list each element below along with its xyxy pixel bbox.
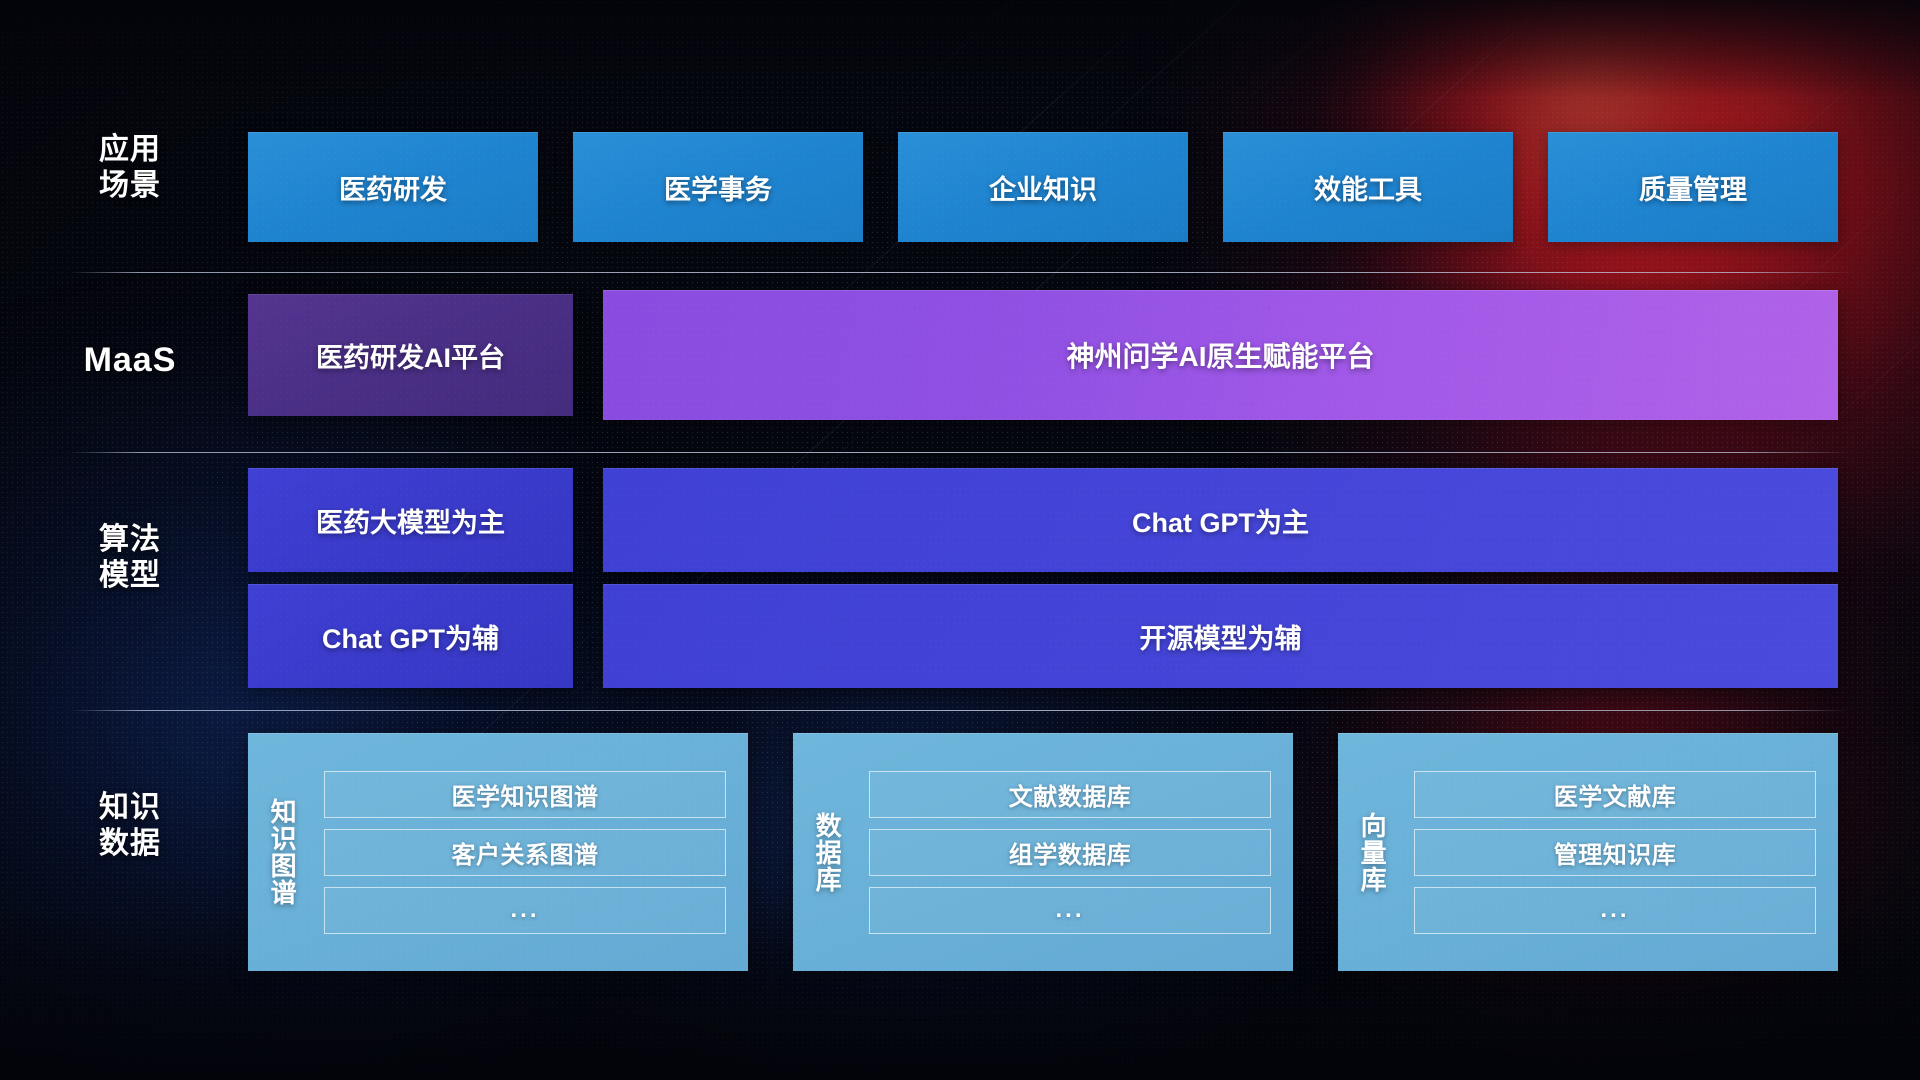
knowledge-group-3-item-1[interactable]: 医学文献库: [1414, 771, 1816, 818]
algorithm-tile-left-1-label: 医药大模型为主: [306, 501, 515, 540]
application-tile-1-label: 医药研发: [329, 168, 457, 207]
maas-platform-right[interactable]: 神州问学AI原生赋能平台: [603, 290, 1838, 420]
row-label-knowledge-line-1: 知识: [70, 790, 190, 826]
application-tile-2-label: 医学事务: [654, 168, 782, 207]
knowledge-group-3-item-3[interactable]: ...: [1414, 887, 1816, 934]
row-label-knowledge-line-2: 数据: [70, 826, 190, 862]
knowledge-group-1-item-3[interactable]: ...: [324, 887, 726, 934]
divider-below-application: [70, 272, 1850, 273]
algorithm-tile-left-1[interactable]: 医药大模型为主: [248, 468, 573, 572]
knowledge-group-1-item-2[interactable]: 客户关系图谱: [324, 829, 726, 876]
maas-platform-left[interactable]: 医药研发AI平台: [248, 294, 573, 416]
algorithm-tile-left-2-label: Chat GPT为辅: [312, 617, 509, 656]
knowledge-group-3-label: 向量库: [1338, 733, 1406, 971]
row-label-maas-text: MaaS: [70, 340, 190, 381]
architecture-diagram: 应用 场景 医药研发 医学事务 企业知识 效能工具 质量管理 MaaS 医药研发…: [0, 0, 1920, 1080]
row-label-algorithm-models: 算法 模型: [70, 522, 190, 594]
maas-platform-left-label: 医药研发AI平台: [306, 336, 515, 375]
algorithm-tile-right-1-label: Chat GPT为主: [1122, 501, 1319, 540]
divider-below-maas: [70, 452, 1850, 453]
knowledge-group-1[interactable]: 知识图谱 医学知识图谱 客户关系图谱 ...: [248, 733, 748, 971]
knowledge-group-2[interactable]: 数据库 文献数据库 组学数据库 ...: [793, 733, 1293, 971]
application-tile-5[interactable]: 质量管理: [1548, 132, 1838, 242]
row-label-application-scenarios: 应用 场景: [70, 132, 190, 204]
row-label-knowledge-data: 知识 数据: [70, 790, 190, 862]
row-label-line-2: 场景: [70, 168, 190, 204]
knowledge-group-3-items: 医学文献库 管理知识库 ...: [1406, 733, 1838, 971]
row-label-algo-line-2: 模型: [70, 558, 190, 594]
knowledge-group-3-item-2[interactable]: 管理知识库: [1414, 829, 1816, 876]
application-tile-5-label: 质量管理: [1629, 168, 1757, 207]
algorithm-tile-right-1[interactable]: Chat GPT为主: [603, 468, 1838, 572]
row-label-algo-line-1: 算法: [70, 522, 190, 558]
row-label-maas: MaaS: [70, 340, 190, 381]
application-tile-3[interactable]: 企业知识: [898, 132, 1188, 242]
knowledge-group-1-items: 医学知识图谱 客户关系图谱 ...: [316, 733, 748, 971]
algorithm-tile-left-2[interactable]: Chat GPT为辅: [248, 584, 573, 688]
application-tile-4-label: 效能工具: [1304, 168, 1432, 207]
knowledge-group-3[interactable]: 向量库 医学文献库 管理知识库 ...: [1338, 733, 1838, 971]
application-tile-4[interactable]: 效能工具: [1223, 132, 1513, 242]
knowledge-group-1-label: 知识图谱: [248, 733, 316, 971]
algorithm-tile-right-2[interactable]: 开源模型为辅: [603, 584, 1838, 688]
divider-below-algorithm: [70, 710, 1850, 711]
knowledge-group-2-label: 数据库: [793, 733, 861, 971]
row-label-line-1: 应用: [70, 132, 190, 168]
application-tile-3-label: 企业知识: [979, 168, 1107, 207]
knowledge-group-2-item-2[interactable]: 组学数据库: [869, 829, 1271, 876]
knowledge-group-2-items: 文献数据库 组学数据库 ...: [861, 733, 1293, 971]
knowledge-group-2-item-1[interactable]: 文献数据库: [869, 771, 1271, 818]
maas-platform-right-label: 神州问学AI原生赋能平台: [1056, 335, 1384, 375]
algorithm-tile-right-2-label: 开源模型为辅: [1130, 617, 1312, 656]
knowledge-group-2-item-3[interactable]: ...: [869, 887, 1271, 934]
application-tile-2[interactable]: 医学事务: [573, 132, 863, 242]
knowledge-group-1-item-1[interactable]: 医学知识图谱: [324, 771, 726, 818]
application-tile-1[interactable]: 医药研发: [248, 132, 538, 242]
